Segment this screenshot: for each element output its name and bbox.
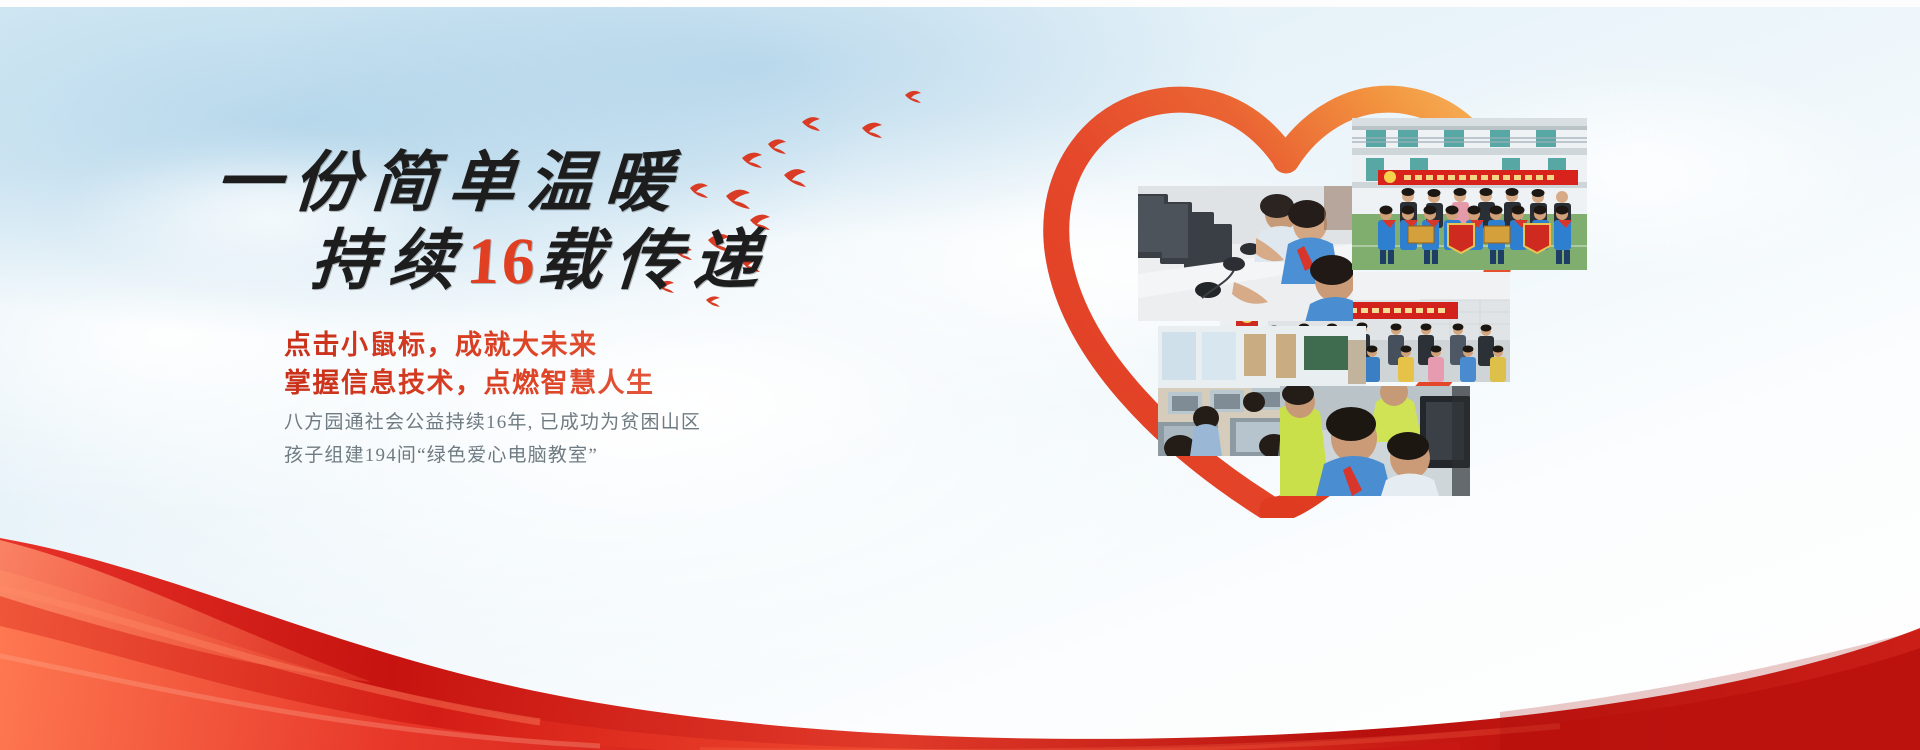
headline-years-number: 16 bbox=[464, 225, 539, 298]
headline-line-1: 一份简单温暖 bbox=[213, 150, 858, 218]
photo-donation-ceremony-schoolyard[interactable] bbox=[1352, 118, 1587, 270]
subtitle: 点击小鼠标，成就大未来 掌握信息技术，点燃智慧人生 bbox=[284, 326, 844, 403]
photo-student-at-monitor[interactable] bbox=[1280, 386, 1470, 496]
promo-banner: 一份简单温暖 持续16载传递 点击小鼠标，成就大未来 掌握信息技术，点燃智慧人生… bbox=[0, 0, 1920, 750]
headline-line2-suffix: 载传递 bbox=[534, 225, 773, 298]
headline-line-2: 持续16载传递 bbox=[309, 228, 858, 296]
subtitle-line-2: 掌握信息技术，点燃智慧人生 bbox=[284, 364, 844, 402]
headline: 一份简单温暖 持续16载传递 bbox=[215, 150, 855, 296]
subtitle-line-1: 点击小鼠标，成就大未来 bbox=[284, 326, 844, 364]
photo-computer-lab-students[interactable] bbox=[1138, 186, 1353, 321]
red-silk-ribbon bbox=[0, 420, 1920, 750]
headline-line2-prefix: 持续 bbox=[308, 225, 469, 298]
